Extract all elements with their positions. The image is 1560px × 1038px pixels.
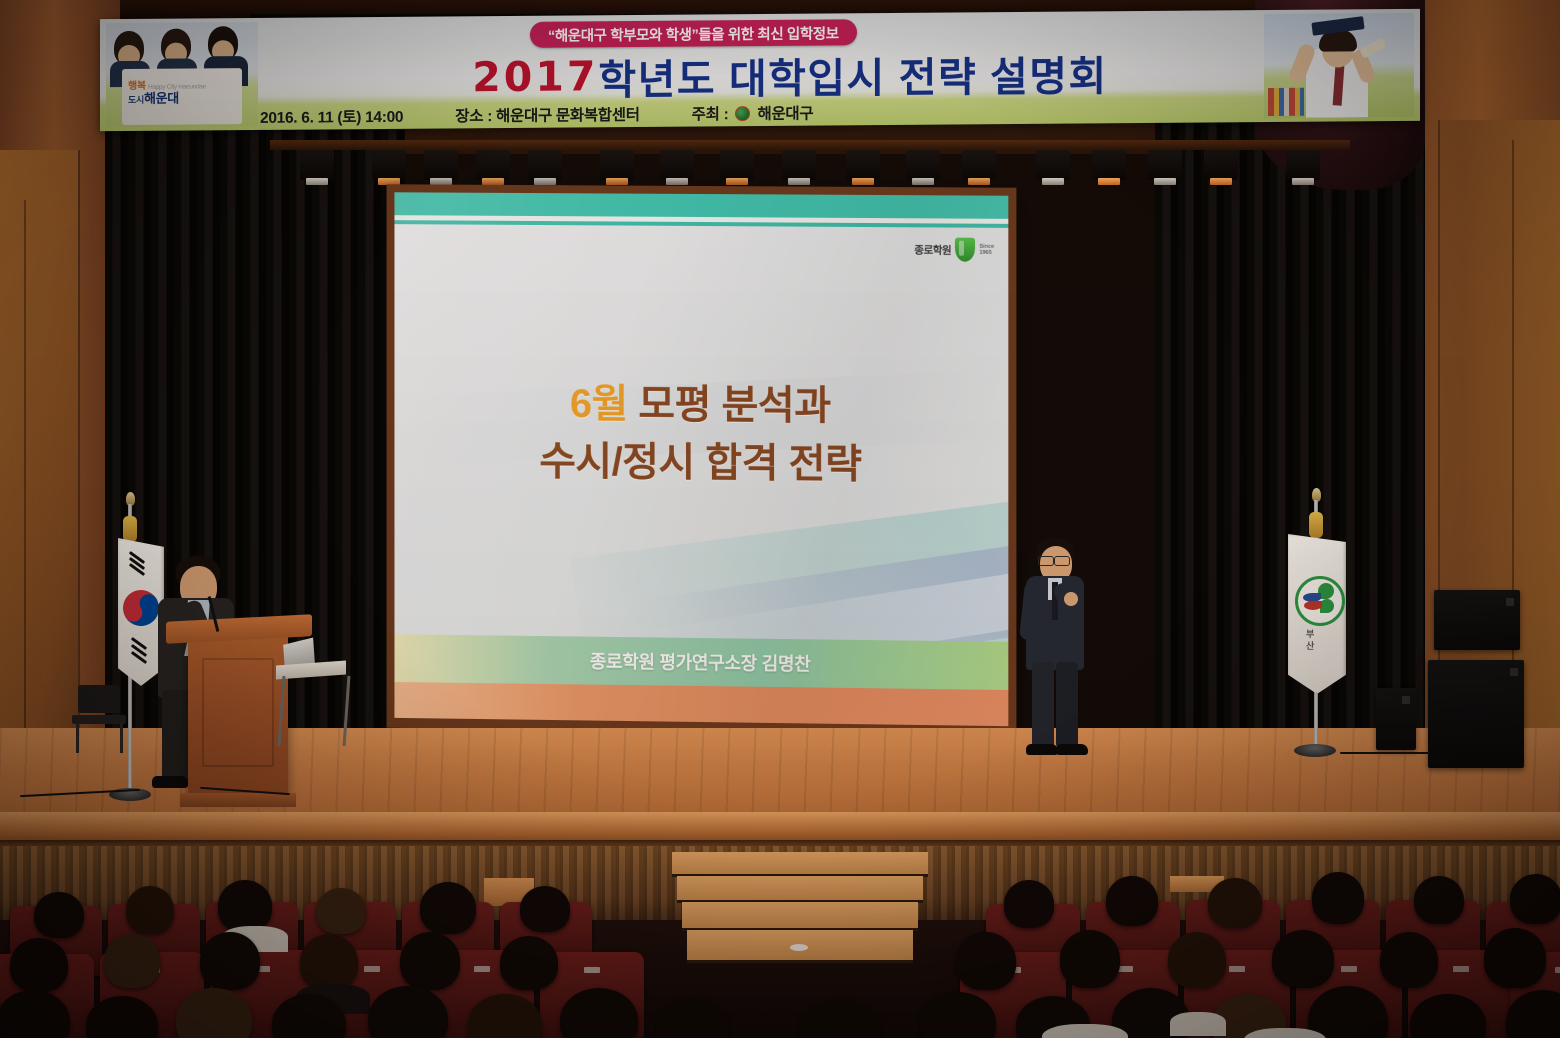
audience-head [300, 934, 358, 990]
banner-title-year: 2017 [472, 52, 598, 101]
stage-light [528, 150, 562, 180]
pa-speaker-sub [1428, 660, 1524, 768]
audience-head [1312, 872, 1364, 924]
slide-title-line2: 수시/정시 합격 전략 [394, 431, 1008, 495]
banner-right-photo [1264, 13, 1414, 118]
audience-head [1060, 930, 1120, 988]
podium-base [180, 793, 296, 807]
projection-screen-frame: 종로학원 Since 1965 6월 모평 분석과 수시/정시 합격 전략 종로… [387, 184, 1017, 736]
stage-light [600, 150, 634, 180]
stage-light [720, 150, 754, 180]
audience-head [520, 886, 570, 932]
audience-shoulders [1170, 1012, 1226, 1036]
projection-screen: 종로학원 Since 1965 6월 모평 분석과 수시/정시 합격 전략 종로… [394, 192, 1008, 726]
stage-light [846, 150, 880, 180]
audience-head [10, 938, 68, 992]
podium-panel [202, 658, 274, 767]
stair-light [790, 944, 808, 951]
stage-light [372, 150, 406, 180]
slide-bottom-band [394, 682, 1008, 726]
banner-host-label: 주최 : [692, 106, 729, 123]
audience-head [1208, 878, 1262, 928]
speaker-cable [1340, 752, 1430, 754]
stage-light [1286, 150, 1320, 180]
audience-head [656, 998, 728, 1038]
since-text: Since 1965 [979, 244, 994, 256]
jongro-logo-text: 종로학원 [914, 242, 951, 257]
audience-head [1510, 874, 1560, 924]
haeundae-city-logo: 행복 Happy City Haeundae 도시해운대 [128, 80, 238, 106]
stage-light [1036, 150, 1070, 180]
stage-light [1204, 150, 1238, 180]
slide-title-highlight: 6월 [570, 382, 628, 426]
presenter-hand [1064, 592, 1078, 606]
stage-light [1148, 150, 1182, 180]
audience-head [1484, 928, 1546, 988]
stage-light [300, 150, 334, 180]
audience-head [956, 932, 1016, 990]
banner-place: 장소 : 해운대구 문화복합센터 [455, 103, 639, 126]
audience-head [1380, 932, 1438, 988]
slide-title-line1-rest: 모평 분석과 [628, 382, 831, 428]
banner-title-rest: 학년도 대학입시 전략 설명회 [598, 42, 1107, 106]
audience-head [200, 932, 260, 990]
pa-monitor-speaker [1376, 688, 1416, 750]
auditorium-photo: 행복 Happy City Haeundae 도시해운대 “해운대구 학부모와 … [0, 0, 1560, 1038]
audience-head [104, 934, 160, 988]
banner-datetime: 2016. 6. 11 (토) 14:00 [260, 105, 403, 128]
audience-head [800, 1000, 880, 1038]
banner-title: 2017 학년도 대학입시 전략 설명회 [290, 42, 1290, 108]
stage-light [906, 150, 940, 180]
audience-head [1106, 876, 1158, 926]
lighting-truss [270, 140, 1350, 150]
stage-light [476, 150, 510, 180]
stage-stairs [672, 852, 928, 974]
pa-speaker-top [1434, 590, 1520, 650]
wooden-podium [188, 630, 288, 795]
audience-head [126, 886, 174, 934]
audience-head [420, 882, 476, 934]
banner-host: 주최 : 해운대구 [692, 102, 814, 125]
event-banner: 행복 Happy City Haeundae 도시해운대 “해운대구 학부모와 … [100, 9, 1420, 131]
audience-head [400, 932, 460, 990]
slide-footer-text: 종로학원 평가연구소장 김명찬 [590, 648, 811, 677]
stage-light [1092, 150, 1126, 180]
audience-head [1414, 876, 1464, 924]
audience-head [316, 888, 366, 934]
audience-shoulders [1042, 1024, 1128, 1038]
audience-head [1004, 880, 1054, 928]
banner-left-photo: 행복 Happy City Haeundae 도시해운대 [106, 22, 258, 127]
stage-light [660, 150, 694, 180]
banner-tagline-pill: “해운대구 학부모와 학생”들을 위한 최신 입학정보 [530, 19, 857, 48]
stage-light [782, 150, 816, 180]
audience-head [34, 892, 84, 938]
shield-icon [955, 238, 975, 262]
audience-head [1168, 932, 1226, 988]
slide-footer-band: 종로학원 평가연구소장 김명찬 [394, 634, 1008, 690]
logo-line2-prefix: 도시 [128, 95, 144, 105]
slide-body: 종로학원 Since 1965 6월 모평 분석과 수시/정시 합격 전략 [394, 224, 1008, 642]
slide-title-line1: 6월 모평 분석과 [394, 373, 1008, 436]
jongro-logo: 종로학원 Since 1965 [914, 237, 994, 262]
stage-light [962, 150, 996, 180]
audience-head [1272, 930, 1334, 988]
banner-tagline-text: “해운대구 학부모와 학생”들을 위한 최신 입학정보 [548, 22, 839, 45]
folding-chair [70, 685, 128, 751]
stage-light [424, 150, 458, 180]
audience-seating [0, 846, 1560, 1038]
logo-line2-main: 해운대 [144, 91, 179, 106]
audience-head [500, 936, 558, 990]
busan-emblem-icon [1295, 576, 1345, 626]
audience-head [218, 880, 272, 932]
table-legs [278, 676, 351, 746]
haeundae-emblem-icon [735, 106, 750, 121]
since-line2: 1965 [979, 250, 991, 256]
slide-title: 6월 모평 분석과 수시/정시 합격 전략 [394, 373, 1008, 495]
banner-host-name: 해운대구 [758, 106, 814, 123]
